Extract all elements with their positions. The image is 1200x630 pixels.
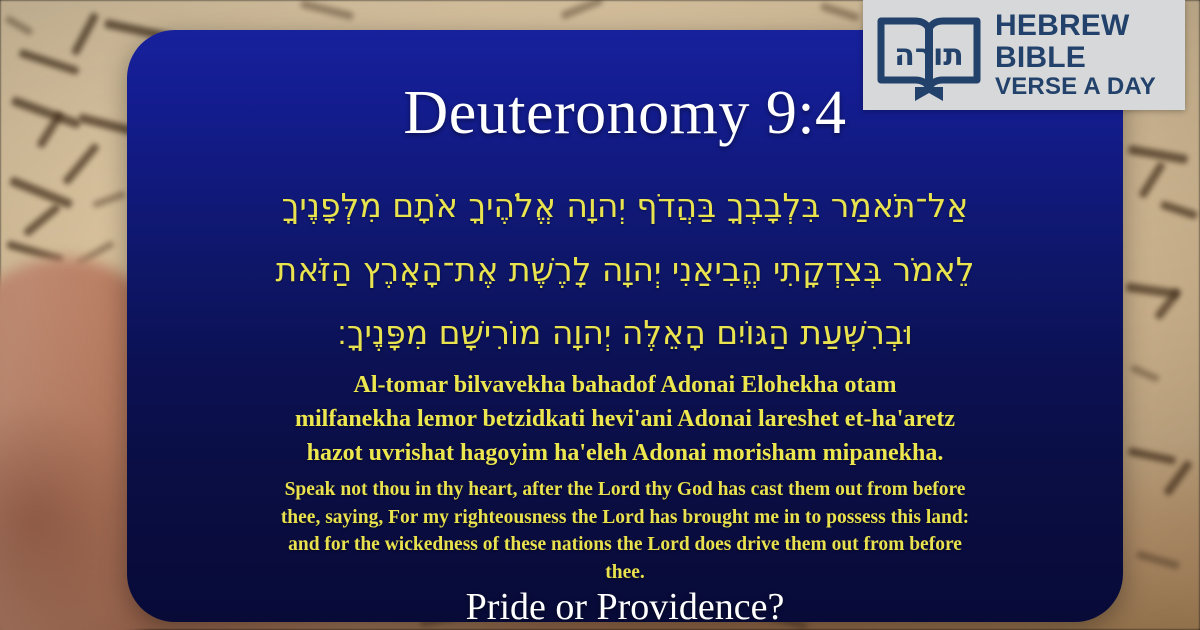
tagline-text: Pride or Providence?: [127, 588, 1123, 622]
hebrew-line: אַל־תֹּאמַר בִּלְבָבְךָ בַּהֲדֹף יְהוָה …: [161, 174, 1089, 238]
verse-image-card: Deuteronomy 9:4 אַל־תֹּאמַר בִּלְבָבְךָ …: [0, 0, 1200, 630]
transliteration-line: milfanekha lemor betzidkati hevi'ani Ado…: [239, 402, 1011, 436]
verse-card: Deuteronomy 9:4 אַל־תֹּאמַר בִּלְבָבְךָ …: [127, 30, 1123, 622]
torah-word: תורה: [894, 38, 963, 73]
brand-logo[interactable]: תורה HEBREW BIBLE VERSE A DAY: [863, 0, 1185, 110]
transliteration-text: Al-tomar bilvavekha bahadof Adonai Elohe…: [239, 368, 1011, 470]
brand-name: HEBREW BIBLE VERSE A DAY: [995, 10, 1156, 99]
hebrew-verse-text: אַל־תֹּאמַר בִּלְבָבְךָ בַּהֲדֹף יְהוָה …: [161, 174, 1089, 365]
transliteration-line: Al-tomar bilvavekha bahadof Adonai Elohe…: [239, 368, 1011, 402]
open-book-icon: תורה: [877, 9, 981, 101]
hebrew-line: לֵאמֹר בְּצִדְקָתִי הֱבִיאַנִי יְהוָה לָ…: [161, 238, 1089, 302]
brand-line-1: HEBREW: [995, 10, 1156, 42]
transliteration-line: hazot uvrishat hagoyim ha'eleh Adonai mo…: [239, 436, 1011, 470]
hebrew-line: וּבְרִשְׁעַת הַגּוֹיִם הָאֵלֶּה יְהוָה מ…: [161, 301, 1089, 365]
brand-line-3: VERSE A DAY: [995, 74, 1156, 99]
english-translation-text: Speak not thou in thy heart, after the L…: [277, 476, 973, 587]
brand-line-2: BIBLE: [995, 42, 1156, 74]
